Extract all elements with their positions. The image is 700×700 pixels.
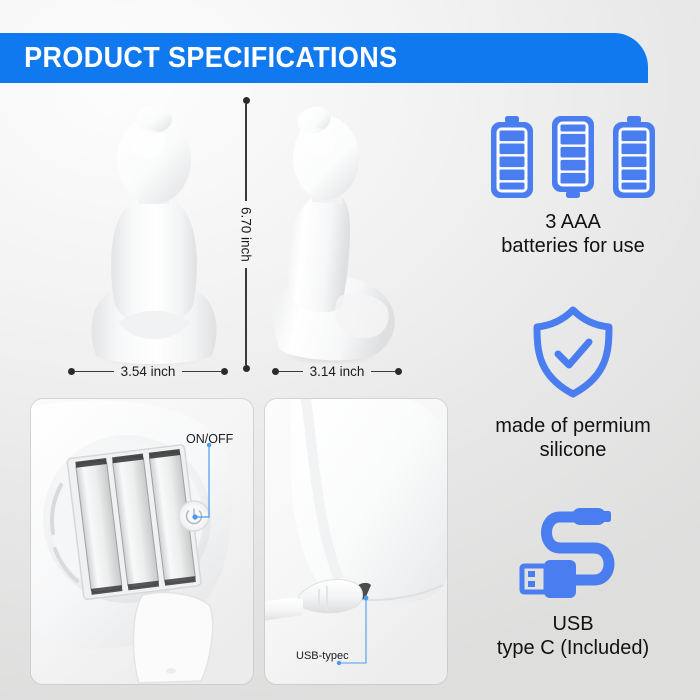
dimension-endpoint-dot bbox=[272, 368, 279, 375]
feature-usb-line2: type C (Included) bbox=[448, 636, 698, 660]
product-specifications-page: PRODUCT SPECIFICATIONS bbox=[0, 0, 700, 700]
feature-usb-label: USB type C (Included) bbox=[448, 612, 698, 661]
usb-cable-icon bbox=[514, 500, 632, 600]
feature-silicone-label: made of permium silicone bbox=[448, 414, 698, 463]
shield-icon-group bbox=[448, 300, 698, 404]
feature-batteries-label: 3 AAA batteries for use bbox=[448, 210, 698, 259]
usb-icon-group bbox=[448, 498, 698, 602]
dimension-line bbox=[75, 371, 114, 373]
battery-icon bbox=[610, 114, 658, 200]
page-title: PRODUCT SPECIFICATIONS bbox=[0, 42, 397, 75]
battery-icon bbox=[549, 114, 597, 200]
feature-silicone-line1: made of permium bbox=[495, 415, 651, 437]
callout-label-onoff: ON/OFF bbox=[186, 432, 233, 446]
dimension-height: 6.70 inch bbox=[239, 97, 253, 372]
feature-usb-line1: USB bbox=[552, 613, 593, 635]
header-banner: PRODUCT SPECIFICATIONS bbox=[0, 33, 648, 83]
dimension-line bbox=[245, 104, 247, 201]
dimension-height-label: 6.70 inch bbox=[239, 201, 254, 268]
dimension-width-front: 3.54 inch bbox=[68, 364, 228, 379]
meditating-figure-side-icon bbox=[262, 100, 412, 368]
feature-batteries-line2: batteries for use bbox=[448, 234, 698, 258]
dimension-width-side-label: 3.14 inch bbox=[303, 364, 372, 379]
feature-silicone-line2: silicone bbox=[448, 438, 698, 462]
dimension-line bbox=[245, 268, 247, 365]
usb-port-photo bbox=[265, 399, 447, 684]
dimension-line bbox=[182, 371, 221, 373]
dimension-width-side: 3.14 inch bbox=[272, 364, 402, 379]
meditating-figure-front-icon bbox=[78, 100, 230, 368]
dimension-width-front-label: 3.54 inch bbox=[114, 364, 183, 379]
product-figure-front bbox=[78, 100, 230, 368]
feature-silicone: made of permium silicone bbox=[448, 300, 698, 463]
feature-usb: USB type C (Included) bbox=[448, 498, 698, 661]
feature-batteries-line1: 3 AAA bbox=[545, 211, 601, 233]
product-figure-side bbox=[262, 100, 412, 368]
dimension-endpoint-dot bbox=[395, 368, 402, 375]
battery-icon bbox=[488, 114, 536, 200]
dimension-line bbox=[371, 371, 395, 373]
dimension-line bbox=[279, 371, 303, 373]
shield-check-icon bbox=[527, 302, 619, 402]
callout-label-usbc: USB-typec bbox=[296, 650, 349, 662]
feature-batteries: 3 AAA batteries for use bbox=[448, 108, 698, 259]
dimension-endpoint-dot bbox=[221, 368, 228, 375]
dimension-endpoint-dot bbox=[68, 368, 75, 375]
dimension-endpoint-dot bbox=[243, 365, 250, 372]
usb-port-image bbox=[265, 399, 447, 684]
battery-icon-group bbox=[448, 108, 698, 200]
dimension-endpoint-dot bbox=[243, 97, 250, 104]
